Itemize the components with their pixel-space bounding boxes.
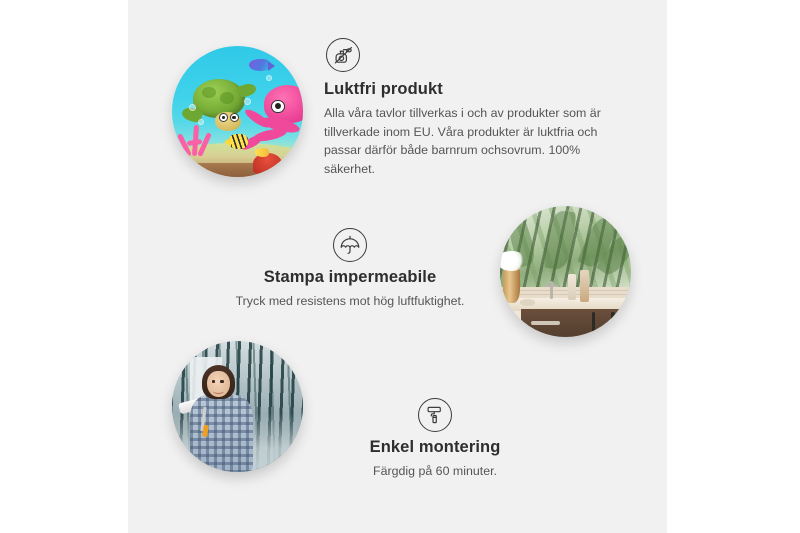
ocean-sand-floor	[172, 163, 303, 177]
cabinet-door-handle	[592, 312, 595, 332]
sink-faucet	[550, 281, 553, 299]
woman-eye-right	[220, 380, 223, 382]
toiletry-bottle	[568, 274, 576, 300]
feature-title: Stampa impermeabile	[208, 268, 492, 287]
infographic-canvas: Luktfri produkt Alla våra tavlor tillver…	[128, 0, 667, 533]
feature-block-easy-mounting: Enkel montering Färgdig på 60 minuter.	[328, 398, 542, 481]
water-bubble	[244, 98, 251, 105]
feature-block-odour-free: Luktfri produkt Alla våra tavlor tillver…	[324, 38, 620, 178]
sea-turtle-eye-right	[230, 113, 239, 122]
painter-circle-photo	[172, 341, 303, 472]
yellow-striped-fish	[228, 134, 248, 150]
bathroom-circle-photo	[500, 206, 631, 337]
paint-roller-icon	[418, 398, 452, 432]
product-feature-infographic: Luktfri produkt Alla våra tavlor tillver…	[0, 0, 800, 533]
water-bubble	[266, 75, 272, 81]
cabinet-door-handle	[611, 312, 614, 332]
red-coral	[253, 153, 282, 174]
drawer-handle	[531, 321, 560, 324]
soap-dish	[520, 299, 536, 306]
feature-description: Färgdig på 60 minuter.	[328, 462, 542, 481]
feature-block-waterproof: Stampa impermeabile Tryck med resistens …	[208, 228, 492, 311]
plaid-shirt	[190, 395, 253, 472]
underwater-scene-circle-photo	[172, 46, 303, 177]
water-bubble	[189, 104, 196, 111]
feature-description: Alla våra tavlor tillverkas i och av pro…	[324, 104, 620, 178]
woman-eye-left	[212, 380, 215, 382]
pink-coral	[180, 125, 214, 164]
sea-turtle-back-fin	[236, 81, 257, 98]
blue-fish	[249, 59, 270, 71]
toiletry-bottle	[580, 270, 589, 301]
umbrella-icon	[333, 228, 367, 262]
feature-title: Luktfri produkt	[324, 80, 620, 99]
feature-description: Tryck med resistens mot hög luftfuktighe…	[208, 292, 492, 311]
no-fragrance-icon	[326, 38, 360, 72]
octopus-eye	[271, 100, 285, 114]
feature-title: Enkel montering	[328, 438, 542, 457]
